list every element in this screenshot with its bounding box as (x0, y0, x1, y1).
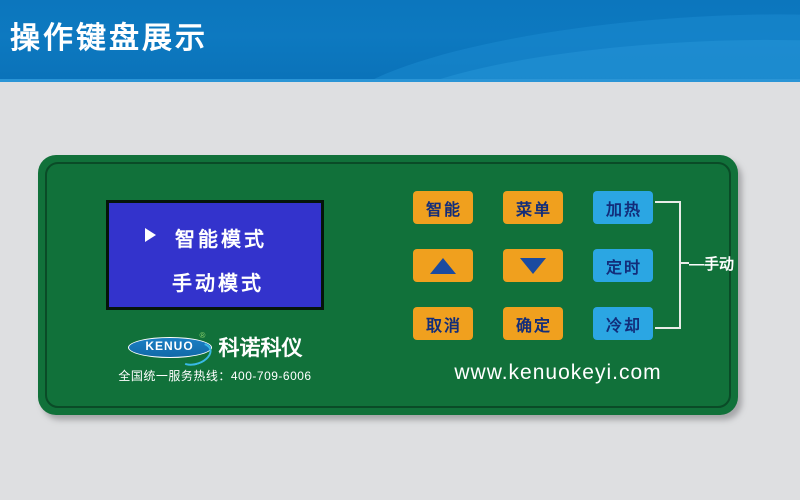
page-header-banner: 操作键盘展示 (0, 0, 800, 82)
brand-row: KENUO ® 科诺科仪 (106, 331, 324, 363)
website-url-text: www.kenuokeyi.com (408, 361, 708, 385)
key-smart[interactable]: 智能 (413, 191, 473, 224)
manual-group-bracket-stub (679, 262, 689, 264)
lcd-display[interactable]: 智能模式 手动模式 (106, 200, 324, 310)
brand-name-cn: 科诺科仪 (219, 332, 303, 362)
key-down[interactable] (503, 249, 563, 282)
keypad-button-grid: 智能 菜单 加热 定时 取消 确定 冷却 —手动 (413, 191, 673, 346)
banner-bottom-accent-line (0, 79, 800, 82)
lcd-menu-item-smart-mode[interactable]: 智能模式 (109, 223, 327, 252)
registered-trademark-icon: ® (200, 332, 206, 340)
key-menu[interactable]: 菜单 (503, 191, 563, 224)
key-confirm[interactable]: 确定 (503, 307, 563, 340)
manual-group-bracket (655, 201, 681, 329)
page-title: 操作键盘展示 (10, 19, 208, 59)
key-heating[interactable]: 加热 (593, 191, 653, 224)
key-cooling[interactable]: 冷却 (593, 307, 653, 340)
screenshot-root: 操作键盘展示 智能模式 手动模式 KENUO ® 科诺科仪 全国统一服务热线：4… (0, 0, 800, 500)
key-timer[interactable]: 定时 (593, 249, 653, 282)
arrow-down-icon (520, 258, 546, 274)
logo-wordmark: KENUO (128, 339, 212, 353)
key-up[interactable] (413, 249, 473, 282)
kenuo-logo-icon: KENUO ® (128, 335, 212, 360)
key-cancel[interactable]: 取消 (413, 307, 473, 340)
arrow-up-icon (430, 258, 456, 274)
service-hotline-text: 全国统一服务热线：400-709-6006 (86, 367, 344, 384)
keypad-panel: 智能模式 手动模式 KENUO ® 科诺科仪 全国统一服务热线：400-709-… (38, 155, 738, 415)
lcd-menu-item-manual-mode[interactable]: 手动模式 (109, 267, 327, 296)
manual-group-label: —手动 (689, 253, 734, 274)
